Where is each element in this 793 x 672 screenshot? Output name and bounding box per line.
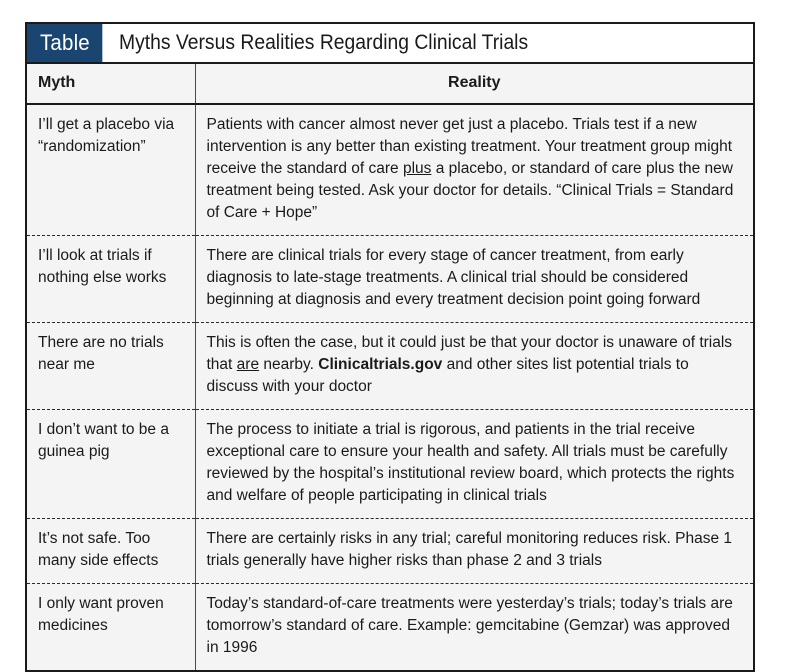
myths-realities-table: Myth Reality I’ll get a placebo via “ran… bbox=[27, 64, 753, 670]
cell-myth: I don’t want to be a guinea pig bbox=[27, 409, 195, 518]
cell-myth: There are no trials near me bbox=[27, 322, 195, 409]
cell-reality: The process to initiate a trial is rigor… bbox=[195, 409, 753, 518]
cell-myth: I’ll look at trials if nothing else work… bbox=[27, 235, 195, 322]
table-body: I’ll get a placebo via “randomization”Pa… bbox=[27, 104, 753, 670]
table-badge: Table bbox=[27, 24, 102, 62]
table-row: It’s not safe. Too many side effectsTher… bbox=[27, 518, 753, 583]
table-header: Myth Reality bbox=[27, 64, 753, 104]
cell-reality: This is often the case, but it could jus… bbox=[195, 322, 753, 409]
reality-text: There are clinical trials for every stag… bbox=[207, 247, 701, 308]
table-row: I only want proven medicinesToday’s stan… bbox=[27, 583, 753, 670]
emphasis-bold: Clinicaltrials.gov bbox=[318, 356, 442, 373]
cell-myth: I only want proven medicines bbox=[27, 583, 195, 670]
cell-myth: It’s not safe. Too many side effects bbox=[27, 518, 195, 583]
reality-text: nearby. bbox=[259, 356, 318, 373]
cell-reality: Patients with cancer almost never get ju… bbox=[195, 104, 753, 236]
reality-text: Today’s standard-of-care treatments were… bbox=[207, 595, 733, 656]
table-title: Myths Versus Realities Regarding Clinica… bbox=[108, 24, 528, 62]
emphasis-underline: are bbox=[237, 356, 259, 373]
column-header-myth: Myth bbox=[27, 64, 195, 104]
table-row: I don’t want to be a guinea pigThe proce… bbox=[27, 409, 753, 518]
table-row: I’ll look at trials if nothing else work… bbox=[27, 235, 753, 322]
table-row: I’ll get a placebo via “randomization”Pa… bbox=[27, 104, 753, 236]
reality-text: There are certainly risks in any trial; … bbox=[207, 530, 733, 569]
cell-myth: I’ll get a placebo via “randomization” bbox=[27, 104, 195, 236]
table-header-row: Myth Reality bbox=[27, 64, 753, 104]
reality-text: The process to initiate a trial is rigor… bbox=[207, 421, 735, 504]
cell-reality: There are certainly risks in any trial; … bbox=[195, 518, 753, 583]
emphasis-underline: plus bbox=[403, 160, 431, 177]
column-header-reality: Reality bbox=[195, 64, 753, 104]
table-figure: Table Myths Versus Realities Regarding C… bbox=[25, 22, 755, 672]
cell-reality: Today’s standard-of-care treatments were… bbox=[195, 583, 753, 670]
table-row: There are no trials near meThis is often… bbox=[27, 322, 753, 409]
table-title-bar: Table Myths Versus Realities Regarding C… bbox=[27, 24, 753, 64]
cell-reality: There are clinical trials for every stag… bbox=[195, 235, 753, 322]
